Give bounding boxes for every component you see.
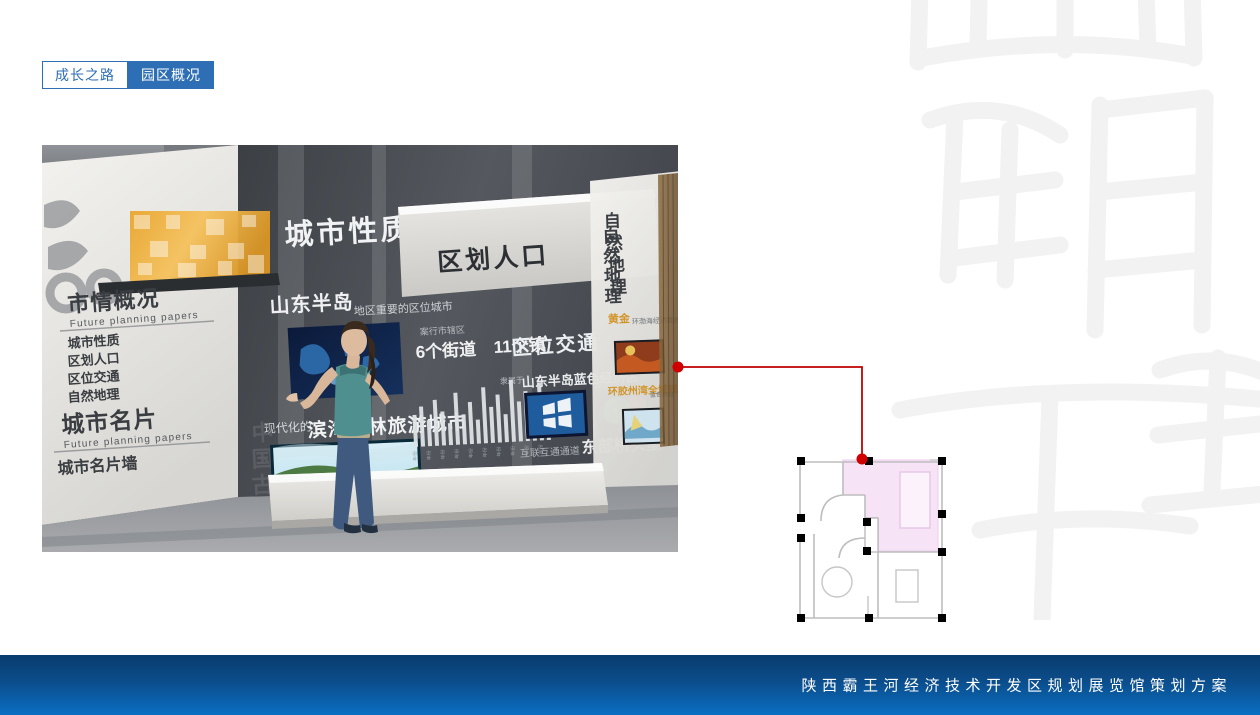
svg-text:年份: 年份: [453, 449, 461, 459]
svg-text:年份: 年份: [509, 446, 517, 456]
svg-text:年份: 年份: [411, 451, 419, 461]
svg-text:6个街道: 6个街道: [415, 339, 476, 362]
svg-text:然: 然: [605, 232, 623, 253]
footer-bar: 陕西霸王河经济技术开发区规划展览馆策划方案: [0, 655, 1260, 715]
exhibition-hall-photo[interactable]: 市情概况 Future planning papers 城市性质 区划人口 区位…: [42, 145, 678, 552]
svg-text:黄金: 黄金: [608, 311, 631, 326]
svg-text:自: 自: [603, 210, 621, 231]
tab-growth-path[interactable]: 成长之路: [42, 61, 128, 89]
svg-text:地: 地: [607, 254, 625, 275]
svg-text:年份: 年份: [481, 447, 489, 457]
svg-text:年份: 年份: [439, 449, 447, 459]
tab-park-overview[interactable]: 园区概况: [128, 61, 214, 89]
svg-text:理: 理: [609, 277, 627, 297]
slide-canvas: 成长之路 园区概况: [0, 0, 1260, 715]
svg-text:年份: 年份: [495, 446, 503, 456]
footer-title: 陕西霸王河经济技术开发区规划展览馆策划方案: [801, 675, 1232, 696]
tab-bar: 成长之路 园区概况: [42, 61, 214, 89]
svg-text:中: 中: [251, 420, 274, 446]
svg-text:年份: 年份: [467, 448, 475, 458]
svg-text:年份: 年份: [425, 450, 433, 460]
exhibition-hall-floor-plan[interactable]: [790, 448, 952, 630]
